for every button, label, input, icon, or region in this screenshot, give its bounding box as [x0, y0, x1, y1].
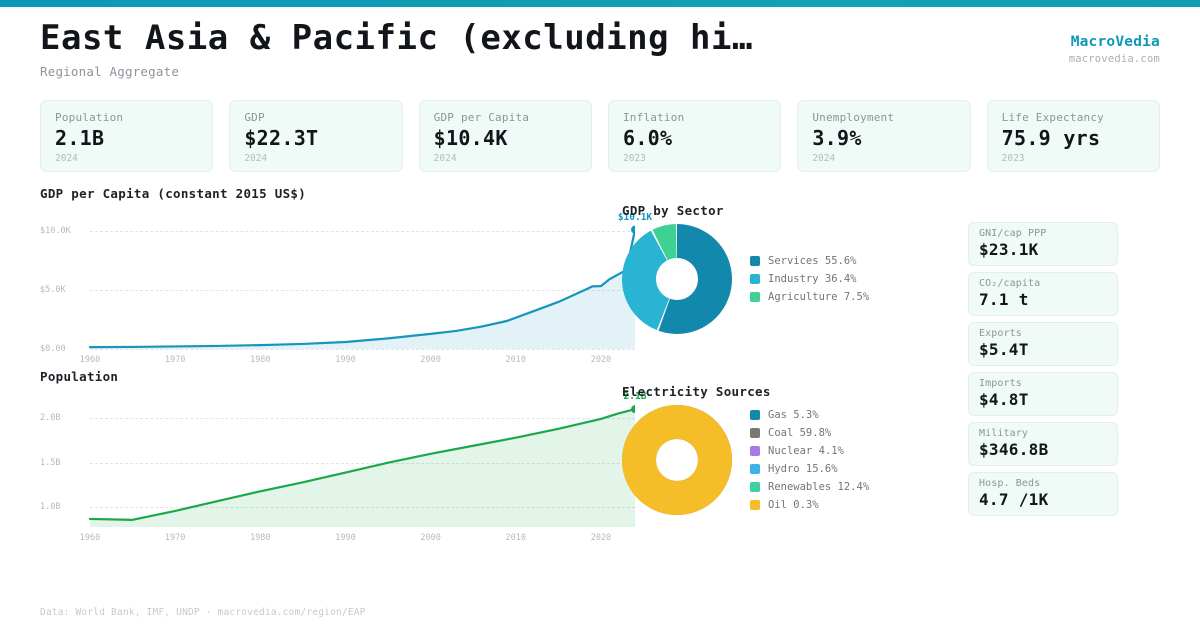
mini-stat-card: Exports$5.4T	[968, 322, 1118, 366]
kpi-value: 6.0%	[623, 126, 766, 150]
mini-stat-card: Military$346.8B	[968, 422, 1118, 466]
chart-gdp-per-capita: GDP per Capita (constant 2015 US$) $0.00…	[40, 186, 600, 371]
kpi-label: Unemployment	[812, 111, 955, 124]
x-axis-tick-label: 1980	[250, 533, 270, 543]
legend-label: Oil 0.3%	[768, 499, 819, 511]
mini-stat-card: CO₂/capita7.1 t	[968, 272, 1118, 316]
kpi-value: 2.1B	[55, 126, 198, 150]
legend-label: Nuclear 4.1%	[768, 445, 844, 457]
brand-url: macrovedia.com	[1069, 53, 1160, 65]
header: East Asia & Pacific (excluding hi… Regio…	[40, 16, 1160, 86]
x-axis-tick-label: 2020	[591, 355, 611, 365]
page-title: East Asia & Pacific (excluding hi…	[40, 16, 1160, 60]
legend-swatch-icon	[750, 482, 760, 492]
mini-stat-value: $5.4T	[979, 340, 1107, 359]
brand-block: MacroVedia macrovedia.com	[1069, 34, 1160, 65]
brand-name: MacroVedia	[1069, 34, 1160, 50]
legend-item: Renewables 12.4%	[750, 478, 869, 496]
kpi-card: Inflation6.0%2023	[608, 100, 781, 172]
legend-swatch-icon	[750, 274, 760, 284]
mini-stat-label: Hosp. Beds	[979, 478, 1107, 489]
kpi-value: 75.9 yrs	[1002, 126, 1145, 150]
mini-stats-column: GNI/cap PPP$23.1KCO₂/capita7.1 tExports$…	[968, 222, 1118, 522]
legend-item: Hydro 15.6%	[750, 460, 869, 478]
legend-swatch-icon	[750, 256, 760, 266]
legend-item: Services 55.6%	[750, 252, 869, 270]
kpi-year: 2024	[244, 153, 387, 164]
mini-stat-label: Exports	[979, 328, 1107, 339]
x-axis-tick-label: 1980	[250, 355, 270, 365]
chart-legend: Gas 5.3%Coal 59.8%Nuclear 4.1%Hydro 15.6…	[750, 406, 869, 514]
legend-label: Agriculture 7.5%	[768, 291, 869, 303]
legend-label: Coal 59.8%	[768, 427, 831, 439]
kpi-card: Population2.1B2024	[40, 100, 213, 172]
x-axis-tick-label: 2010	[506, 533, 526, 543]
legend-label: Gas 5.3%	[768, 409, 819, 421]
x-axis-tick-label: 1960	[80, 533, 100, 543]
kpi-card: Life Expectancy75.9 yrs2023	[987, 100, 1160, 172]
chart-title: GDP per Capita (constant 2015 US$)	[40, 186, 600, 201]
mini-stat-value: $346.8B	[979, 440, 1107, 459]
legend-item: Industry 36.4%	[750, 270, 869, 288]
mini-stat-value: 7.1 t	[979, 290, 1107, 309]
chart-title: GDP by Sector	[622, 203, 869, 218]
x-axis-tick-label: 1990	[335, 533, 355, 543]
series-line	[40, 402, 635, 527]
chart-legend: Services 55.6%Industry 36.4%Agriculture …	[750, 252, 869, 306]
kpi-year: 2023	[623, 153, 766, 164]
gridline	[90, 349, 635, 350]
x-axis-tick-label: 2020	[591, 533, 611, 543]
legend-label: Services 55.6%	[768, 255, 857, 267]
legend-label: Industry 36.4%	[768, 273, 857, 285]
legend-swatch-icon	[750, 446, 760, 456]
top-accent-bar	[0, 0, 1200, 7]
plot-area: 1.0B1.5B2.0B2.1B196019701980199020002010…	[40, 402, 635, 549]
legend-swatch-icon	[750, 464, 760, 474]
chart-title: Population	[40, 369, 600, 384]
kpi-value: $10.4K	[434, 126, 577, 150]
x-axis-tick-label: 1960	[80, 355, 100, 365]
mini-stat-card: Hosp. Beds4.7 /1K	[968, 472, 1118, 516]
chart-title: Electricity Sources	[622, 384, 869, 399]
page-subtitle: Regional Aggregate	[40, 64, 1160, 79]
donut-with-legend: Gas 5.3%Coal 59.8%Nuclear 4.1%Hydro 15.6…	[622, 405, 869, 515]
legend-label: Hydro 15.6%	[768, 463, 838, 475]
legend-item: Agriculture 7.5%	[750, 288, 869, 306]
kpi-label: Inflation	[623, 111, 766, 124]
mini-stat-value: $23.1K	[979, 240, 1107, 259]
mini-stat-label: Imports	[979, 378, 1107, 389]
x-axis-tick-label: 1970	[165, 533, 185, 543]
legend-swatch-icon	[750, 500, 760, 510]
kpi-label: Population	[55, 111, 198, 124]
x-axis-tick-label: 2000	[420, 533, 440, 543]
x-axis-tick-label: 2010	[506, 355, 526, 365]
mini-stat-card: GNI/cap PPP$23.1K	[968, 222, 1118, 266]
kpi-card: GDP$22.3T2024	[229, 100, 402, 172]
kpi-value: 3.9%	[812, 126, 955, 150]
chart-gdp-by-sector: GDP by Sector Services 55.6%Industry 36.…	[622, 203, 869, 334]
x-axis-tick-label: 1990	[335, 355, 355, 365]
mini-stat-value: $4.8T	[979, 390, 1107, 409]
mini-stat-value: 4.7 /1K	[979, 490, 1107, 509]
kpi-year: 2023	[1002, 153, 1145, 164]
x-axis-tick-label: 1970	[165, 355, 185, 365]
kpi-label: GDP	[244, 111, 387, 124]
donut-svg	[622, 405, 732, 515]
kpi-year: 2024	[812, 153, 955, 164]
chart-electricity-sources: Electricity Sources Gas 5.3%Coal 59.8%Nu…	[622, 384, 869, 515]
kpi-card-row: Population2.1B2024GDP$22.3T2024GDP per C…	[40, 100, 1160, 172]
kpi-label: GDP per Capita	[434, 111, 577, 124]
donut-svg	[622, 224, 732, 334]
donut-slice	[639, 422, 715, 498]
x-axis-tick-label: 2000	[420, 355, 440, 365]
mini-stat-label: CO₂/capita	[979, 278, 1107, 289]
series-line	[40, 219, 635, 349]
kpi-value: $22.3T	[244, 126, 387, 150]
legend-item: Oil 0.3%	[750, 496, 869, 514]
legend-item: Gas 5.3%	[750, 406, 869, 424]
kpi-label: Life Expectancy	[1002, 111, 1145, 124]
legend-swatch-icon	[750, 292, 760, 302]
kpi-year: 2024	[55, 153, 198, 164]
infographic-page: East Asia & Pacific (excluding hi… Regio…	[0, 0, 1200, 630]
mini-stat-label: Military	[979, 428, 1107, 439]
legend-label: Renewables 12.4%	[768, 481, 869, 493]
kpi-card: Unemployment3.9%2024	[797, 100, 970, 172]
legend-swatch-icon	[750, 410, 760, 420]
kpi-card: GDP per Capita$10.4K2024	[419, 100, 592, 172]
legend-item: Coal 59.8%	[750, 424, 869, 442]
mini-stat-card: Imports$4.8T	[968, 372, 1118, 416]
chart-population: Population 1.0B1.5B2.0B2.1B1960197019801…	[40, 369, 600, 549]
mini-stat-label: GNI/cap PPP	[979, 228, 1107, 239]
legend-item: Nuclear 4.1%	[750, 442, 869, 460]
donut-with-legend: Services 55.6%Industry 36.4%Agriculture …	[622, 224, 869, 334]
footer-source: Data: World Bank, IMF, UNDP · macrovedia…	[40, 607, 366, 618]
kpi-year: 2024	[434, 153, 577, 164]
legend-swatch-icon	[750, 428, 760, 438]
plot-area: $0.00$5.0K$10.0K$10.1K196019701980199020…	[40, 219, 635, 371]
